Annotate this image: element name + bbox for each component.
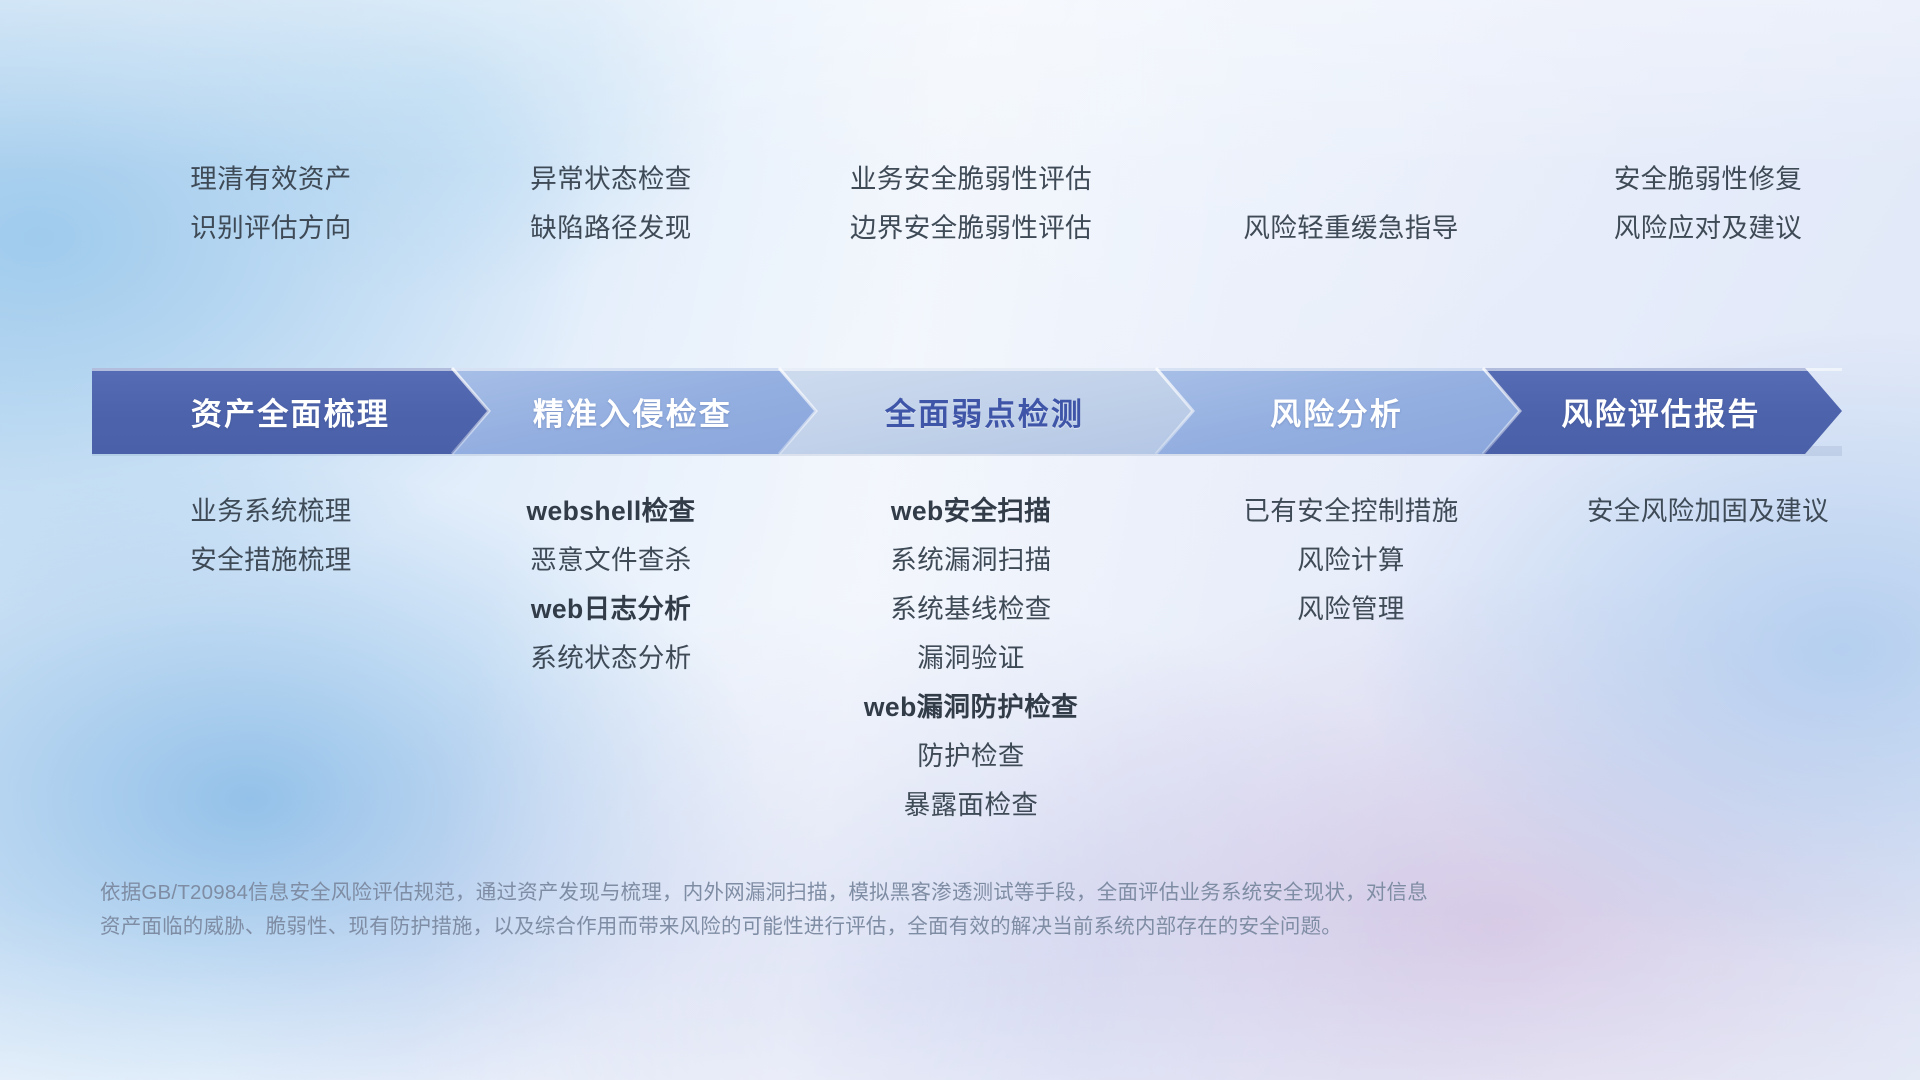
stage-label-2[interactable]: 精准入侵检查	[449, 368, 816, 454]
bottom-note: 已有安全控制措施	[1166, 487, 1536, 536]
stage-label-5[interactable]: 风险评估报告	[1480, 368, 1842, 454]
bottom-note: web漏洞防护检查	[776, 683, 1166, 732]
bottom-note: 漏洞验证	[776, 634, 1166, 683]
bottom-note: 系统状态分析	[446, 634, 776, 683]
bottom-note: 恶意文件查杀	[446, 536, 776, 585]
bottom-note: 防护检查	[776, 732, 1166, 781]
footer-description: 依据GB/T20984信息安全风险评估规范，通过资产发现与梳理，内外网漏洞扫描，…	[100, 876, 1720, 944]
bottom-note: 系统基线检查	[776, 585, 1166, 634]
bottom-note: 系统漏洞扫描	[776, 536, 1166, 585]
bottom-note: web日志分析	[446, 585, 776, 634]
top-notes-row: 理清有效资产 识别评估方向 异常状态检查 缺陷路径发现 业务安全脆弱性评估 边界…	[96, 150, 1880, 295]
top-note: 缺陷路径发现	[446, 204, 776, 253]
footer-line-2: 资产面临的威胁、脆弱性、现有防护措施，以及综合作用而带来风险的可能性进行评估，全…	[100, 910, 1720, 944]
top-note: 边界安全脆弱性评估	[776, 204, 1166, 253]
top-note: 异常状态检查	[446, 155, 776, 204]
stage-label-4[interactable]: 风险分析	[1153, 368, 1520, 454]
top-notes-stage-2: 异常状态检查 缺陷路径发现	[446, 150, 776, 295]
top-note: 业务安全脆弱性评估	[776, 155, 1166, 204]
top-note: 识别评估方向	[96, 204, 446, 253]
diagram-content: 理清有效资产 识别评估方向 异常状态检查 缺陷路径发现 业务安全脆弱性评估 边界…	[0, 0, 1920, 1080]
top-notes-stage-5: 安全脆弱性修复 风险应对及建议	[1536, 150, 1880, 295]
stage-label-1[interactable]: 资产全面梳理	[92, 368, 489, 454]
top-note: 风险轻重缓急指导	[1166, 204, 1536, 253]
infographic-canvas: 理清有效资产 识别评估方向 异常状态检查 缺陷路径发现 业务安全脆弱性评估 边界…	[0, 0, 1920, 1080]
top-note: 风险应对及建议	[1536, 204, 1880, 253]
top-note: 理清有效资产	[96, 155, 446, 204]
bottom-note: 暴露面检查	[776, 781, 1166, 830]
bottom-note: web安全扫描	[776, 487, 1166, 536]
top-notes-stage-3: 业务安全脆弱性评估 边界安全脆弱性评估	[776, 150, 1166, 295]
top-note: 安全脆弱性修复	[1536, 155, 1880, 204]
bottom-note: webshell检查	[446, 487, 776, 536]
top-notes-stage-4: 风险轻重缓急指导	[1166, 150, 1536, 295]
bottom-notes-row: 业务系统梳理 安全措施梳理 webshell检查 恶意文件查杀 web日志分析 …	[96, 487, 1880, 847]
footer-line-1: 依据GB/T20984信息安全风险评估规范，通过资产发现与梳理，内外网漏洞扫描，…	[100, 876, 1720, 910]
bottom-note: 业务系统梳理	[96, 487, 446, 536]
process-flow-banner: 资产全面梳理 精准入侵检查 全面弱点检测 风险分析 风险评估报告	[92, 368, 1842, 454]
top-notes-stage-1: 理清有效资产 识别评估方向	[96, 150, 446, 295]
stage-label-3[interactable]: 全面弱点检测	[776, 368, 1193, 454]
bottom-note: 风险计算	[1166, 536, 1536, 585]
bottom-note: 风险管理	[1166, 585, 1536, 634]
bottom-note: 安全风险加固及建议	[1536, 487, 1880, 536]
bottom-note: 安全措施梳理	[96, 536, 446, 585]
